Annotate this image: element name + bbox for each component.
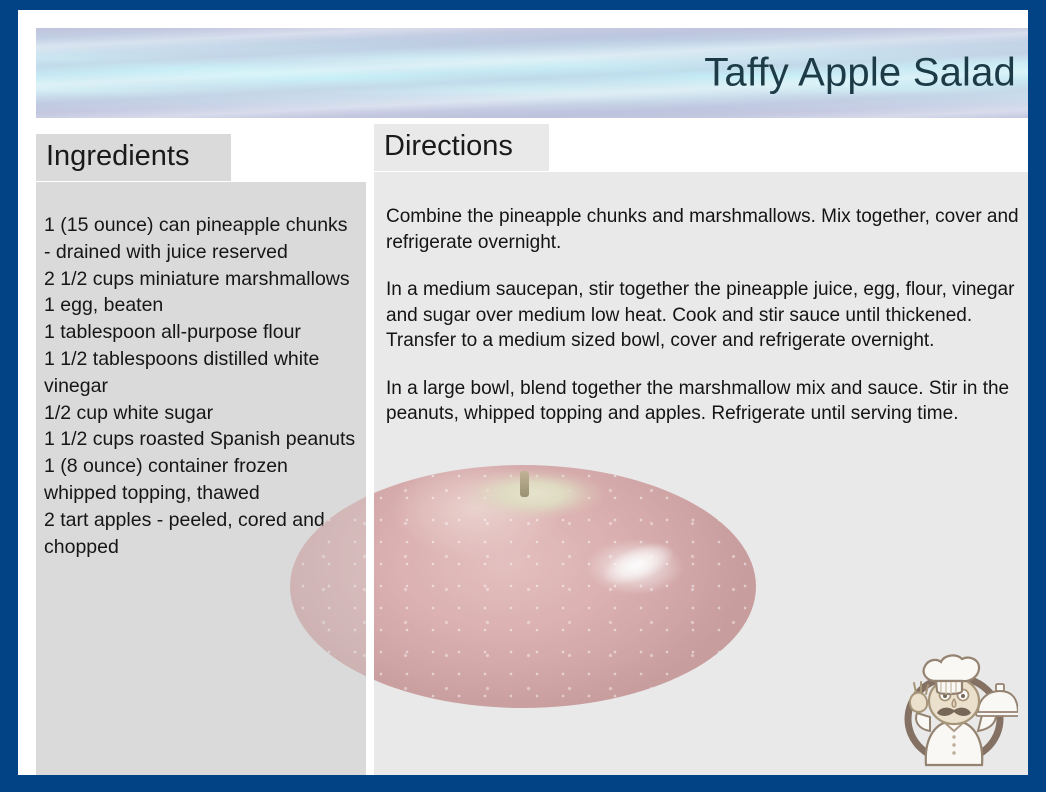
chef-button bbox=[952, 751, 955, 754]
header-banner: Taffy Apple Salad bbox=[36, 28, 1028, 118]
list-item: 1 tablespoon all-purpose flour bbox=[44, 319, 358, 346]
list-item: 1 egg, beaten bbox=[44, 292, 358, 319]
chef-nose bbox=[952, 699, 956, 707]
ingredients-column: Ingredients 1 (15 ounce) can pineapple c… bbox=[36, 134, 366, 775]
list-item: 1 (8 ounce) container frozen whipped top… bbox=[44, 453, 358, 507]
card-inner-frame: Taffy Apple Salad Ingredients 1 (15 ounc… bbox=[18, 10, 1028, 775]
chef-pupil-right bbox=[961, 694, 965, 698]
chef-button bbox=[952, 743, 955, 746]
ingredients-list: 1 (15 ounce) can pineapple chunks - drai… bbox=[44, 212, 358, 560]
chef-right-arm bbox=[978, 715, 996, 731]
list-item: 1 1/2 cups roasted Spanish peanuts bbox=[44, 426, 358, 453]
ingredients-heading: Ingredients bbox=[36, 134, 231, 181]
list-item: 1 1/2 tablespoons distilled white vinega… bbox=[44, 346, 358, 400]
directions-text: Combine the pineapple chunks and marshma… bbox=[386, 204, 1026, 427]
ingredients-panel: 1 (15 ounce) can pineapple chunks - drai… bbox=[36, 182, 366, 775]
column-divider bbox=[366, 134, 374, 775]
chef-logo bbox=[890, 645, 1018, 769]
page-title: Taffy Apple Salad bbox=[704, 51, 1016, 96]
recipe-card: Taffy Apple Salad Ingredients 1 (15 ounc… bbox=[0, 0, 1046, 792]
direction-step: In a medium saucepan, stir together the … bbox=[386, 277, 1026, 354]
directions-heading: Directions bbox=[374, 124, 549, 171]
chef-jacket bbox=[926, 721, 982, 765]
direction-step: Combine the pineapple chunks and marshma… bbox=[386, 204, 1026, 255]
list-item: 1 (15 ounce) can pineapple chunks - drai… bbox=[44, 212, 358, 266]
list-item: 2 tart apples - peeled, cored and choppe… bbox=[44, 507, 358, 561]
direction-step: In a large bowl, blend together the mars… bbox=[386, 376, 1026, 427]
list-item: 1/2 cup white sugar bbox=[44, 400, 358, 427]
list-item: 2 1/2 cups miniature marshmallows bbox=[44, 266, 358, 293]
chef-left-arm bbox=[916, 713, 930, 731]
chef-button bbox=[952, 735, 955, 738]
